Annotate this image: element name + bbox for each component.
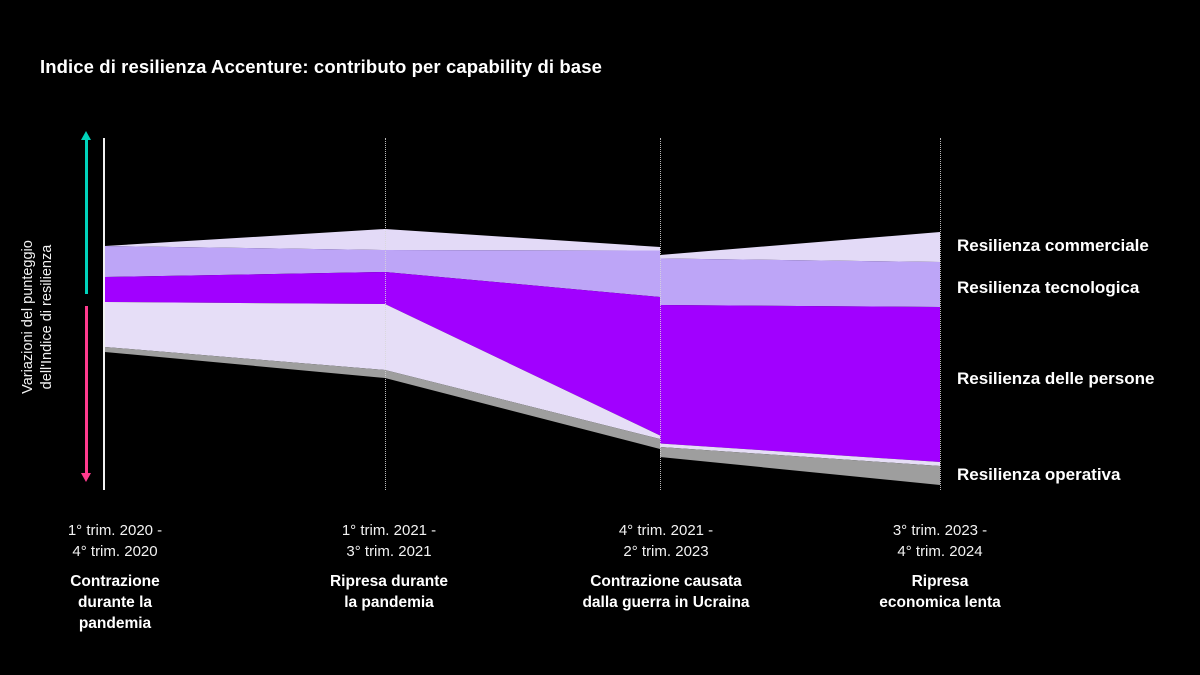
legend-item-resilienza-operativa[interactable]: Resilienza operativa — [957, 465, 1120, 485]
period-phase-1: Contrazione durante la pandemia — [20, 571, 210, 634]
period-range-4: 3° trim. 2023 - 4° trim. 2024 — [845, 520, 1035, 562]
period-divider-1 — [385, 138, 386, 490]
period-phase-4: Ripresa economica lenta — [845, 571, 1035, 613]
period-group-3: 4° trim. 2021 - 2° trim. 2023 Contrazion… — [537, 520, 795, 613]
legend-item-resilienza-commerciale[interactable]: Resilienza commerciale — [957, 236, 1149, 256]
period-phase-3: Contrazione causata dalla guerra in Ucra… — [537, 571, 795, 613]
period-group-4: 3° trim. 2023 - 4° trim. 2024 Ripresa ec… — [845, 520, 1035, 613]
period-range-1: 1° trim. 2020 - 4° trim. 2020 — [20, 520, 210, 562]
period-group-2: 1° trim. 2021 - 3° trim. 2021 Ripresa du… — [294, 520, 484, 613]
period-phase-2: Ripresa durante la pandemia — [294, 571, 484, 613]
period-group-1: 1° trim. 2020 - 4° trim. 2020 Contrazion… — [20, 520, 210, 634]
chart-canvas: Indice di resilienza Accenture: contribu… — [0, 0, 1200, 675]
period-divider-3 — [940, 138, 941, 490]
period-divider-2 — [660, 138, 661, 490]
period-range-2: 1° trim. 2021 - 3° trim. 2021 — [294, 520, 484, 562]
period-range-3: 4° trim. 2021 - 2° trim. 2023 — [537, 520, 795, 562]
legend-item-resilienza-delle-persone[interactable]: Resilienza delle persone — [957, 369, 1154, 389]
legend-item-resilienza-tecnologica[interactable]: Resilienza tecnologica — [957, 278, 1139, 298]
